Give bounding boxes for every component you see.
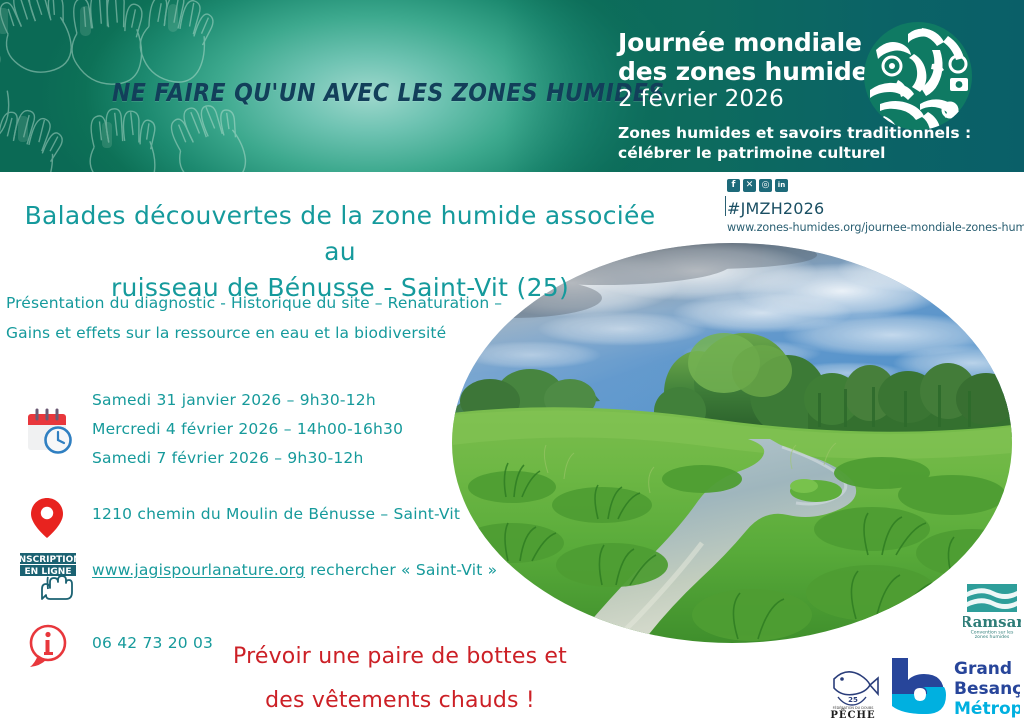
svg-text:Besançon: Besançon xyxy=(954,679,1020,699)
grand-besancon-metropole-logo: Grand Besançon Métropole xyxy=(884,654,1020,720)
warning-note-line2: des vêtements chauds ! xyxy=(200,679,600,723)
registration-suffix: rechercher « Saint-Vit » xyxy=(305,561,497,579)
instagram-icon[interactable]: ◎ xyxy=(759,179,772,192)
registration-text: www.jagispourlanature.org rechercher « S… xyxy=(92,561,497,579)
event-address: 1210 chemin du Moulin de Bénusse – Saint… xyxy=(92,505,460,523)
online-registration-icon: INSCRIPTION EN LIGNE xyxy=(20,551,82,603)
linkedin-icon[interactable]: in xyxy=(775,179,788,192)
svg-text:zones humides: zones humides xyxy=(975,634,1010,639)
website-url[interactable]: www.zones-humides.org/journee-mondiale-z… xyxy=(727,221,1024,234)
date-item-2: Mercredi 4 février 2026 – 14h00-16h30 xyxy=(92,420,403,438)
header-slogan: NE FAIRE QU'UN AVEC LES ZONES HUMIDES xyxy=(112,78,665,107)
page-subtitle-line1: Présentation du diagnostic - Historique … xyxy=(6,294,502,312)
facebook-icon[interactable]: f xyxy=(727,179,740,192)
hashtag-label: #JMZH2026 xyxy=(727,199,824,218)
ramsar-logo: Ramsar Convention sur les zones humides xyxy=(963,583,1021,639)
wetlands-day-emblem-icon xyxy=(862,20,974,132)
text-cursor xyxy=(725,196,726,216)
wwd-theme-line2: célébrer le patrimoine culturel xyxy=(618,144,885,162)
svg-text:Métropole: Métropole xyxy=(954,699,1020,719)
svg-text:INSCRIPTION: INSCRIPTION xyxy=(20,555,81,565)
wwd-title: Journée mondiale des zones humides xyxy=(618,28,883,86)
poster-root: NE FAIRE QU'UN AVEC LES ZONES HUMIDES Jo… xyxy=(0,0,1024,725)
page-subtitle: Présentation du diagnostic - Historique … xyxy=(6,288,566,348)
svg-text:EN LIGNE: EN LIGNE xyxy=(25,567,72,577)
peche-logo: 25 FÉDÉRATION DU DOUBS PÊCHE xyxy=(822,657,884,719)
warning-note: Prévoir une paire de bottes et des vêtem… xyxy=(200,635,600,723)
svg-text:Grand: Grand xyxy=(954,659,1012,679)
map-pin-icon xyxy=(28,496,66,540)
dates-list: Samedi 31 janvier 2026 – 9h30-12h Mercre… xyxy=(92,391,403,467)
contact-phone: 06 42 73 20 03 xyxy=(92,634,213,652)
svg-text:PÊCHE: PÊCHE xyxy=(830,709,875,719)
wwd-date: 2 février 2026 xyxy=(618,86,784,112)
warning-note-line1: Prévoir une paire de bottes et xyxy=(233,644,567,669)
svg-text:Ramsar: Ramsar xyxy=(963,613,1021,631)
calendar-clock-icon xyxy=(22,406,78,458)
svg-text:25: 25 xyxy=(848,696,858,704)
wwd-title-line1: Journée mondiale xyxy=(618,28,862,57)
x-twitter-icon[interactable]: ✕ xyxy=(743,179,756,192)
info-bubble-icon xyxy=(24,622,72,670)
date-item-3: Samedi 7 février 2026 – 9h30-12h xyxy=(92,449,403,467)
page-subtitle-line2: Gains et effets sur la ressource en eau … xyxy=(6,318,566,348)
social-icons-row: f ✕ ◎ in xyxy=(727,179,788,192)
date-item-1: Samedi 31 janvier 2026 – 9h30-12h xyxy=(92,391,403,409)
header-banner: NE FAIRE QU'UN AVEC LES ZONES HUMIDES Jo… xyxy=(0,0,1024,172)
registration-link[interactable]: www.jagispourlanature.org xyxy=(92,561,305,579)
wwd-title-line2: des zones humides xyxy=(618,57,883,86)
page-title-line1: Balades découvertes de la zone humide as… xyxy=(25,201,656,266)
